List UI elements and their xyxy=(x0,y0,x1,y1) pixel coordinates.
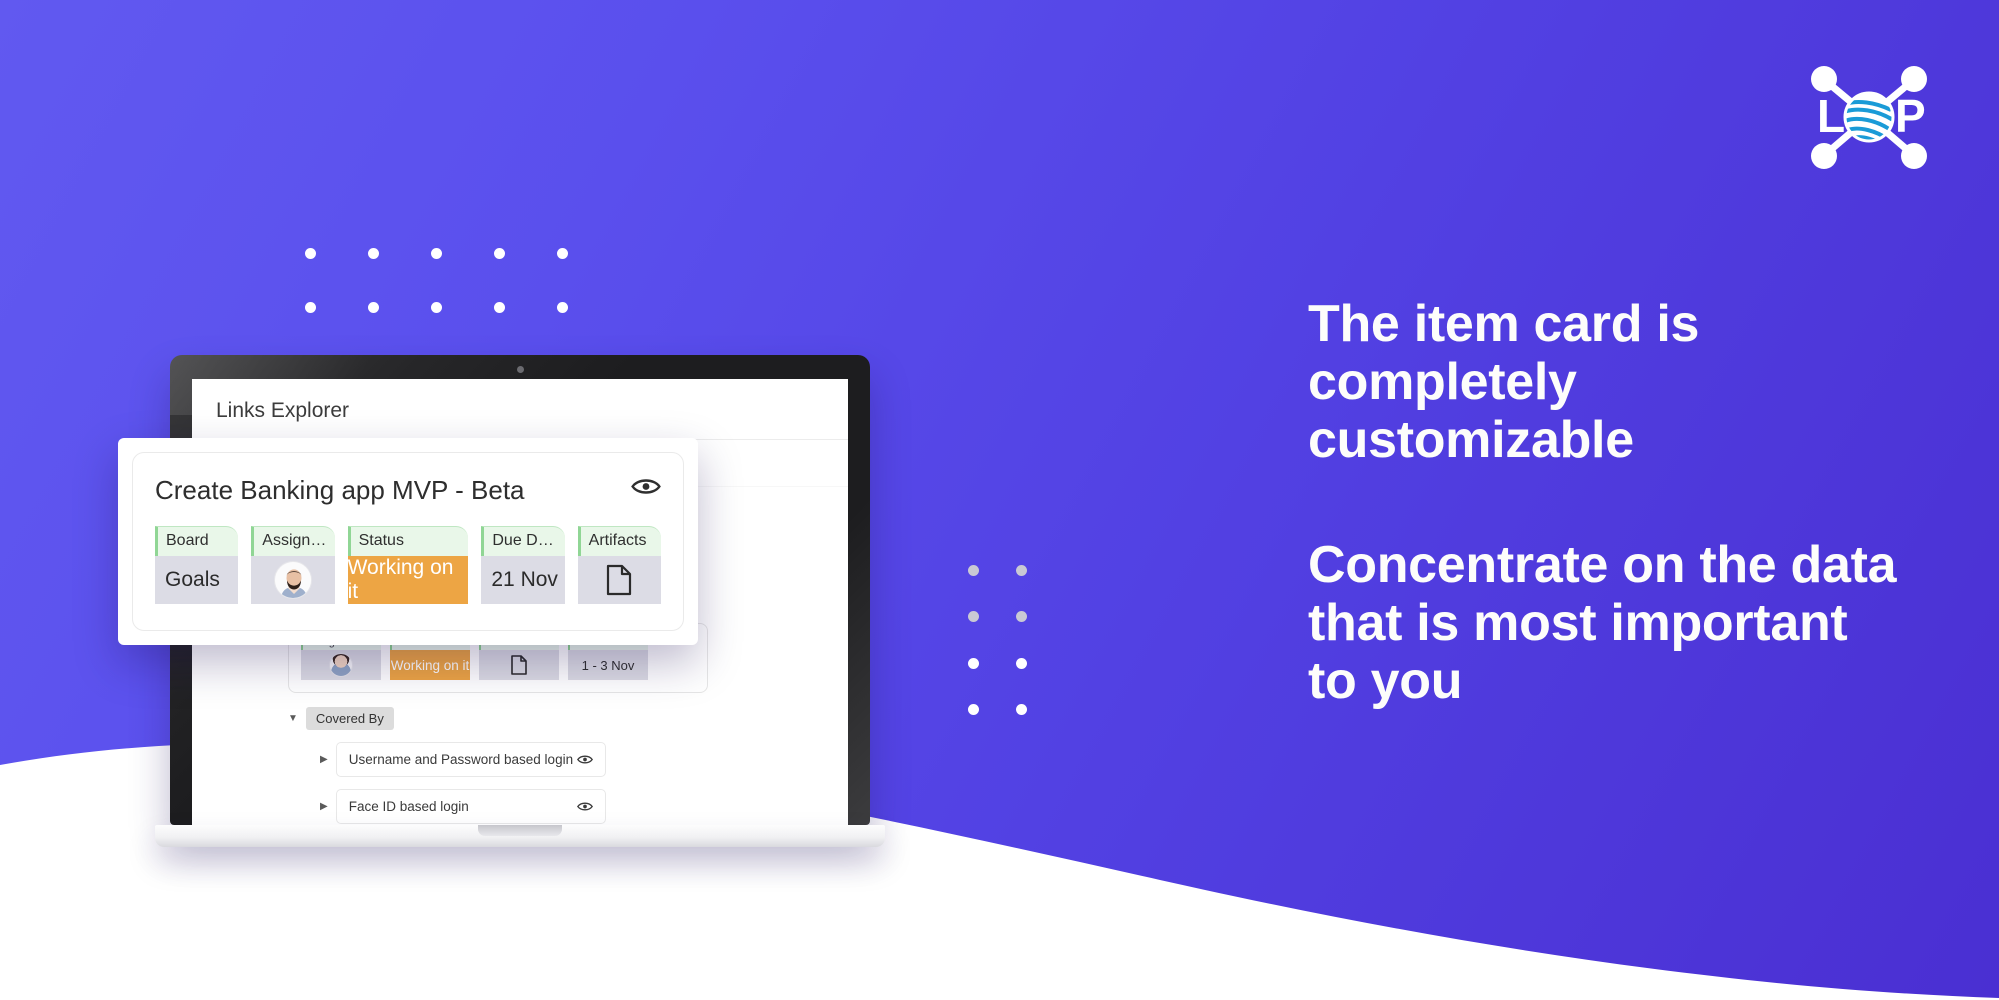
item-card[interactable]: Create Banking app MVP - Beta Board Goal… xyxy=(118,438,698,645)
visibility-toggle-button[interactable] xyxy=(631,477,661,501)
decor-dot xyxy=(1016,658,1027,669)
decor-dot xyxy=(1016,704,1027,715)
decor-dot xyxy=(494,248,505,259)
decor-dot xyxy=(305,302,316,313)
decor-dot xyxy=(368,248,379,259)
field-chip-board[interactable]: Board Goals xyxy=(155,526,238,604)
eye-icon[interactable] xyxy=(577,801,593,812)
app-window-title: Links Explorer xyxy=(192,379,848,440)
decor-dot xyxy=(431,248,442,259)
decor-dot xyxy=(431,302,442,313)
decor-dot xyxy=(1016,565,1027,576)
item-card-inner: Create Banking app MVP - Beta Board Goal… xyxy=(132,452,684,631)
field-chip-status[interactable]: Status Working on it xyxy=(348,526,469,604)
child-item[interactable]: Face ID based login xyxy=(336,789,606,824)
decor-dot xyxy=(968,565,979,576)
mini-chip-value: 1 - 3 Nov xyxy=(568,650,648,680)
item-card-title: Create Banking app MVP - Beta xyxy=(155,475,525,506)
headline-primary: The item card is completely customizable xyxy=(1308,295,1908,470)
logo-letter-l: L xyxy=(1817,90,1845,142)
marketing-copy: The item card is completely customizable… xyxy=(1308,295,1908,710)
decor-dot xyxy=(557,302,568,313)
decor-dot xyxy=(968,658,979,669)
logo-lp: L P xyxy=(1799,60,1939,175)
item-field-chips: Board Goals Assignee xyxy=(155,526,661,604)
decor-dot xyxy=(368,302,379,313)
slide-canvas: L P xyxy=(0,0,1999,1000)
mini-chip-value xyxy=(479,650,559,680)
group-label: Covered By xyxy=(306,707,394,730)
child-row[interactable]: ▶ Username and Password based login xyxy=(320,742,824,777)
field-label: Artifacts xyxy=(578,526,661,556)
field-label: Assignee xyxy=(251,526,334,556)
document-icon xyxy=(606,564,632,596)
logo-sphere-icon xyxy=(1844,92,1894,146)
decor-dot xyxy=(305,248,316,259)
caret-right-icon[interactable]: ▶ xyxy=(320,754,328,765)
avatar xyxy=(274,561,312,599)
child-item[interactable]: Username and Password based login xyxy=(336,742,606,777)
child-item-title: Username and Password based login xyxy=(349,752,573,767)
avatar xyxy=(329,653,353,677)
field-chip-due-date[interactable]: Due Date 21 Nov xyxy=(481,526,564,604)
logo-letter-p: P xyxy=(1895,90,1926,142)
webcam-icon xyxy=(517,366,524,373)
field-value xyxy=(578,556,661,604)
mini-chip-value xyxy=(301,650,381,680)
caret-down-icon[interactable]: ▼ xyxy=(288,713,298,724)
decor-dot xyxy=(1016,611,1027,622)
child-item-title: Face ID based login xyxy=(349,799,469,814)
child-row[interactable]: ▶ Face ID based login xyxy=(320,789,824,824)
decor-dot xyxy=(968,704,979,715)
field-label: Status xyxy=(348,526,469,556)
dot-grid-right xyxy=(968,565,1028,755)
headline-secondary: Concentrate on the data that is most imp… xyxy=(1308,536,1908,711)
avatar-photo xyxy=(275,562,312,599)
mini-chip-value: Working on it xyxy=(390,650,470,680)
document-icon xyxy=(511,655,527,675)
field-chip-artifacts[interactable]: Artifacts xyxy=(578,526,661,604)
decor-dot xyxy=(557,248,568,259)
decor-dot xyxy=(968,611,979,622)
field-value: Goals xyxy=(155,556,238,604)
laptop-notch xyxy=(478,825,562,836)
field-value xyxy=(251,556,334,604)
field-value: Working on it xyxy=(348,556,469,604)
field-label: Board xyxy=(155,526,238,556)
field-value: 21 Nov xyxy=(481,556,564,604)
laptop-base xyxy=(155,825,885,847)
decor-dot xyxy=(494,302,505,313)
eye-icon[interactable] xyxy=(631,477,661,496)
field-label: Due Date xyxy=(481,526,564,556)
caret-right-icon[interactable]: ▶ xyxy=(320,801,328,812)
field-chip-assignee[interactable]: Assignee xyxy=(251,526,334,604)
dot-grid-top xyxy=(305,248,575,318)
eye-icon[interactable] xyxy=(577,754,593,765)
item-card-header: Create Banking app MVP - Beta xyxy=(155,475,661,506)
group-row-covered-by[interactable]: ▼ Covered By xyxy=(288,707,824,730)
